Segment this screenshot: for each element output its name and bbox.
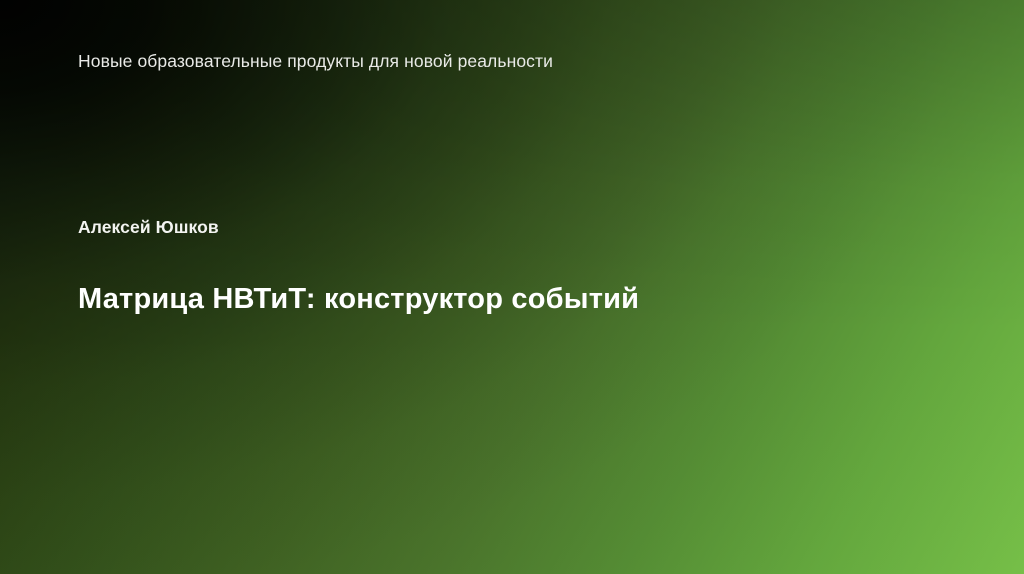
- slide-kicker: Новые образовательные продукты для новой…: [78, 49, 648, 75]
- slide-content: Новые образовательные продукты для новой…: [0, 0, 1024, 574]
- slide-title: Матрица НВТиТ: конструктор событий: [78, 281, 639, 319]
- slide-author: Алексей Юшков: [78, 215, 219, 240]
- presentation-slide: Новые образовательные продукты для новой…: [0, 0, 1024, 574]
